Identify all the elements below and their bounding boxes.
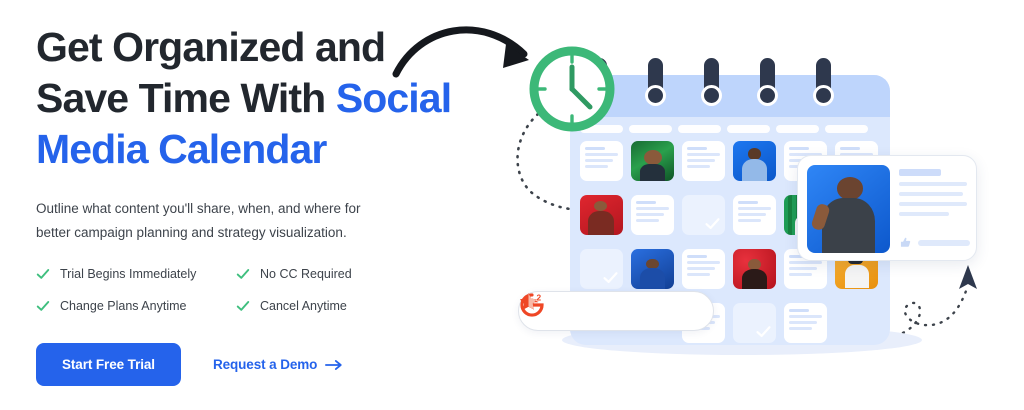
headline-line-3-accent: Media Calendar	[36, 126, 326, 172]
post-preview-card[interactable]	[797, 155, 977, 261]
clock-icon	[528, 45, 616, 133]
binding-ring	[648, 58, 663, 102]
checklist-label: Trial Begins Immediately	[60, 267, 196, 281]
calendar-cell-post-card[interactable]	[682, 249, 725, 289]
binding-ring	[816, 58, 831, 102]
star-icon	[630, 302, 649, 321]
hero-section: Get Organized andSave Time With SocialMe…	[0, 0, 1024, 410]
hero-illustration: 2	[500, 0, 1024, 410]
checklist-item-cancel-anytime: Cancel Anytime	[236, 299, 396, 313]
day-pill	[776, 125, 819, 133]
start-free-trial-button[interactable]: Start Free Trial	[36, 343, 181, 386]
calendar-binding-rings	[570, 58, 890, 108]
check-icon	[236, 299, 250, 313]
request-a-demo-label: Request a Demo	[213, 357, 317, 372]
check-icon	[36, 267, 50, 281]
calendar-cell-photo-person-red-backdrop[interactable]	[580, 195, 623, 235]
binding-ring	[704, 58, 719, 102]
headline-line-1: Get Organized and	[36, 24, 385, 70]
day-pill	[629, 125, 672, 133]
calendar-cell-post-card[interactable]	[631, 195, 674, 235]
preview-text-lines	[899, 165, 967, 251]
checklist-label: No CC Required	[260, 267, 352, 281]
calendar-day-labels	[580, 125, 880, 133]
star-icon-half	[652, 302, 671, 321]
preview-footer	[899, 236, 970, 249]
calendar-cell-photo-man-in-greenery[interactable]	[631, 141, 674, 181]
calendar-cell-checked[interactable]	[733, 303, 776, 343]
feature-checklist: Trial Begins Immediately No CC Required …	[36, 267, 506, 313]
checklist-item-change-plans: Change Plans Anytime	[36, 299, 236, 313]
preview-photo-man-pointing-up	[807, 165, 890, 253]
checklist-item-trial-begins: Trial Begins Immediately	[36, 267, 236, 281]
calendar-cell-empty	[835, 303, 878, 343]
hero-subheading: Outline what content you'll share, when,…	[36, 197, 386, 245]
calendar-cell-checked[interactable]	[580, 249, 623, 289]
calendar-cell-post-card[interactable]	[682, 141, 725, 181]
star-icon	[564, 302, 583, 321]
check-icon	[36, 299, 50, 313]
day-pill	[825, 125, 868, 133]
checklist-item-no-cc: No CC Required	[236, 267, 396, 281]
star-rating	[564, 302, 671, 321]
cta-row: Start Free Trial Request a Demo	[36, 343, 506, 386]
calendar-cell-checked[interactable]	[682, 195, 725, 235]
star-icon	[586, 302, 605, 321]
day-pill	[678, 125, 721, 133]
day-pill	[727, 125, 770, 133]
calendar-cell-photo-woman-cheering-blue[interactable]	[733, 141, 776, 181]
calendar-cell-photo-woman-red-flowers[interactable]	[733, 249, 776, 289]
checklist-label: Cancel Anytime	[260, 299, 347, 313]
request-a-demo-link[interactable]: Request a Demo	[213, 357, 343, 372]
thumbs-up-icon	[899, 236, 912, 249]
g2-rating-badge[interactable]: 2	[518, 291, 714, 331]
arrow-right-icon	[325, 359, 343, 371]
calendar-cell-post-card[interactable]	[580, 141, 623, 181]
calendar-cell-post-card[interactable]	[733, 195, 776, 235]
binding-ring	[760, 58, 775, 102]
headline-line-2-plain: Save Time With	[36, 75, 336, 121]
checklist-label: Change Plans Anytime	[60, 299, 186, 313]
check-icon	[236, 267, 250, 281]
calendar-cell-post-card[interactable]	[784, 303, 827, 343]
calendar-cell-photo-person-blue-hood[interactable]	[631, 249, 674, 289]
star-icon	[608, 302, 627, 321]
